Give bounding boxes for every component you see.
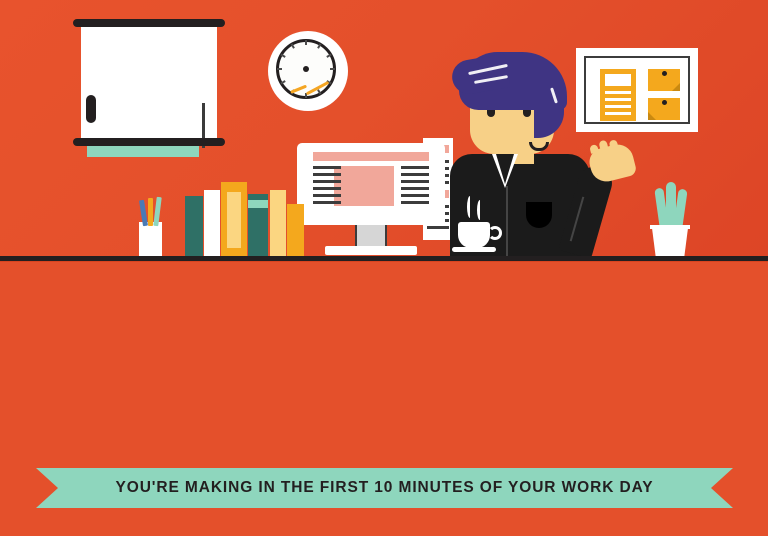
book-gold-inner [227, 192, 241, 248]
book-teal-1 [185, 196, 203, 256]
infographic-poster: 9 PRODUCTIVITY MISTAKES YOU'RE MAKING IN… [0, 0, 768, 536]
book-orange [287, 204, 304, 256]
book-cream [270, 190, 286, 256]
subtitle-ribbon: YOU'RE MAKING IN THE FIRST 10 MINUTES OF… [36, 468, 733, 508]
book-white [204, 190, 220, 256]
plant-pot [652, 228, 688, 256]
book-stack [0, 0, 768, 256]
office-scene-illustration [0, 0, 768, 262]
subtitle-ribbon-text: YOU'RE MAKING IN THE FIRST 10 MINUTES OF… [116, 479, 654, 497]
book-teal-2-stripe [248, 200, 268, 208]
